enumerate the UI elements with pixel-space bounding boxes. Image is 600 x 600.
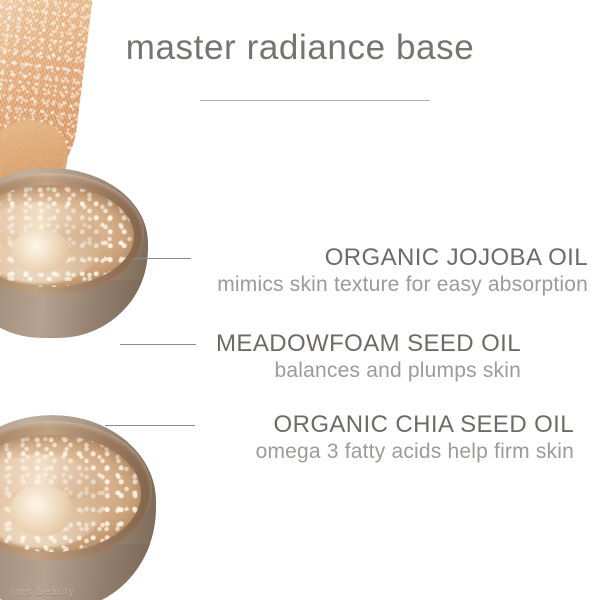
ingredient-description: omega 3 fatty acids help firm skin [0, 438, 574, 465]
ingredient-callout: MEADOWFOAM SEED OIL balances and plumps … [0, 329, 600, 391]
jar-brand-emboss: rms beauty [0, 587, 110, 598]
ingredient-callout: ORGANIC CHIA SEED OIL omega 3 fatty acid… [0, 410, 600, 472]
ingredient-description: mimics skin texture for easy absorption [0, 271, 588, 298]
ingredient-name: ORGANIC CHIA SEED OIL [0, 410, 574, 440]
product-infographic: rms beauty master radiance base ORGANIC … [0, 0, 600, 600]
ingredient-callout: ORGANIC JOJOBA OIL mimics skin texture f… [0, 243, 600, 305]
jar-cream-highlight [10, 485, 72, 536]
title-divider [200, 100, 430, 101]
ingredient-description: balances and plumps skin [0, 357, 521, 384]
page-title: master radiance base [0, 30, 600, 65]
ingredient-name: MEADOWFOAM SEED OIL [0, 329, 521, 359]
ingredient-name: ORGANIC JOJOBA OIL [0, 243, 588, 273]
